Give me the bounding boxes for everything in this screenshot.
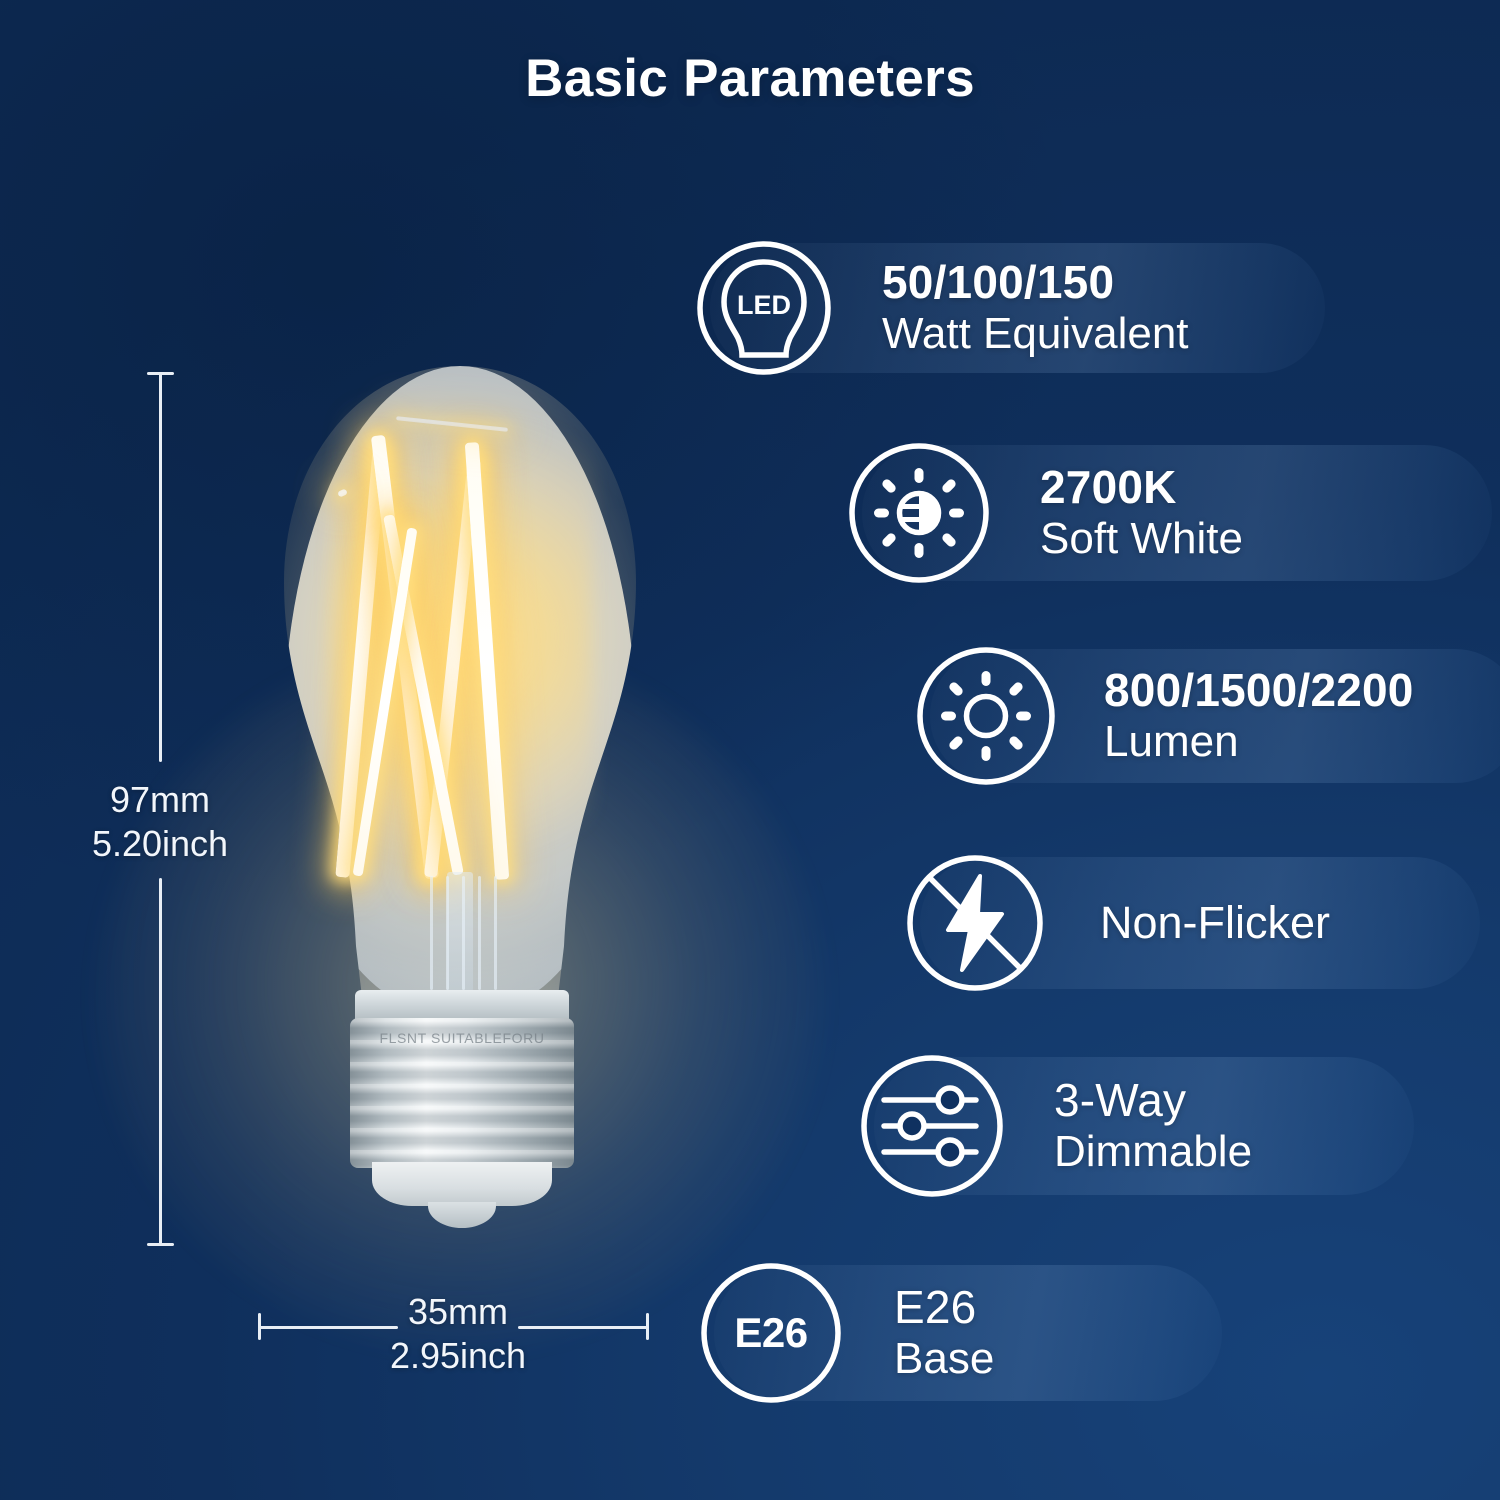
feature-value: 50/100/150: [882, 256, 1189, 308]
color-temperature-icon: [840, 434, 998, 592]
feature-text: 50/100/150 Watt Equivalent: [882, 256, 1189, 360]
page-title: Basic Parameters: [0, 48, 1500, 109]
feature-value: 3-Way: [1054, 1074, 1252, 1126]
feature-row-non-flicker: Non-Flicker: [898, 846, 1330, 1000]
feature-value: E26: [894, 1281, 994, 1333]
feature-row-lumen: 800/1500/2200 Lumen: [908, 638, 1414, 794]
feature-row-watt-equivalent: LED 50/100/150 Watt Equivalent: [688, 232, 1189, 384]
base-marking-text: FLSNT SUITABLEFORU: [350, 1030, 574, 1046]
feature-label: Base: [894, 1333, 994, 1385]
dimmer-sliders-icon: [852, 1046, 1012, 1206]
feature-label: Lumen: [1104, 716, 1414, 768]
led-bulb-icon: LED: [688, 232, 840, 384]
height-label: 97mm 5.20inch: [50, 778, 270, 866]
no-flicker-icon: [898, 846, 1052, 1000]
feature-row-color-temperature: 2700K Soft White: [840, 434, 1243, 592]
feature-text: E26 Base: [894, 1281, 994, 1385]
e26-base-icon: E26: [692, 1254, 850, 1412]
feature-value: 2700K: [1040, 461, 1243, 513]
feature-text: 2700K Soft White: [1040, 461, 1243, 565]
e26-icon-label: E26: [692, 1254, 850, 1412]
brightness-sun-icon: [908, 638, 1064, 794]
feature-row-e26-base: E26 E26 Base: [692, 1254, 994, 1412]
feature-text: Non-Flicker: [1100, 898, 1330, 948]
feature-text: 800/1500/2200 Lumen: [1104, 664, 1414, 768]
feature-label: Watt Equivalent: [882, 308, 1189, 360]
svg-text:LED: LED: [737, 290, 791, 320]
feature-row-dimmable: 3-Way Dimmable: [852, 1046, 1252, 1206]
feature-label: Dimmable: [1054, 1126, 1252, 1178]
feature-text: 3-Way Dimmable: [1054, 1074, 1252, 1178]
feature-value: 800/1500/2200: [1104, 664, 1414, 716]
feature-label: Non-Flicker: [1100, 898, 1330, 948]
width-label: 35mm 2.95inch: [348, 1290, 568, 1378]
feature-label: Soft White: [1040, 513, 1243, 565]
infographic-canvas: Basic Parameters: [0, 0, 1500, 1500]
